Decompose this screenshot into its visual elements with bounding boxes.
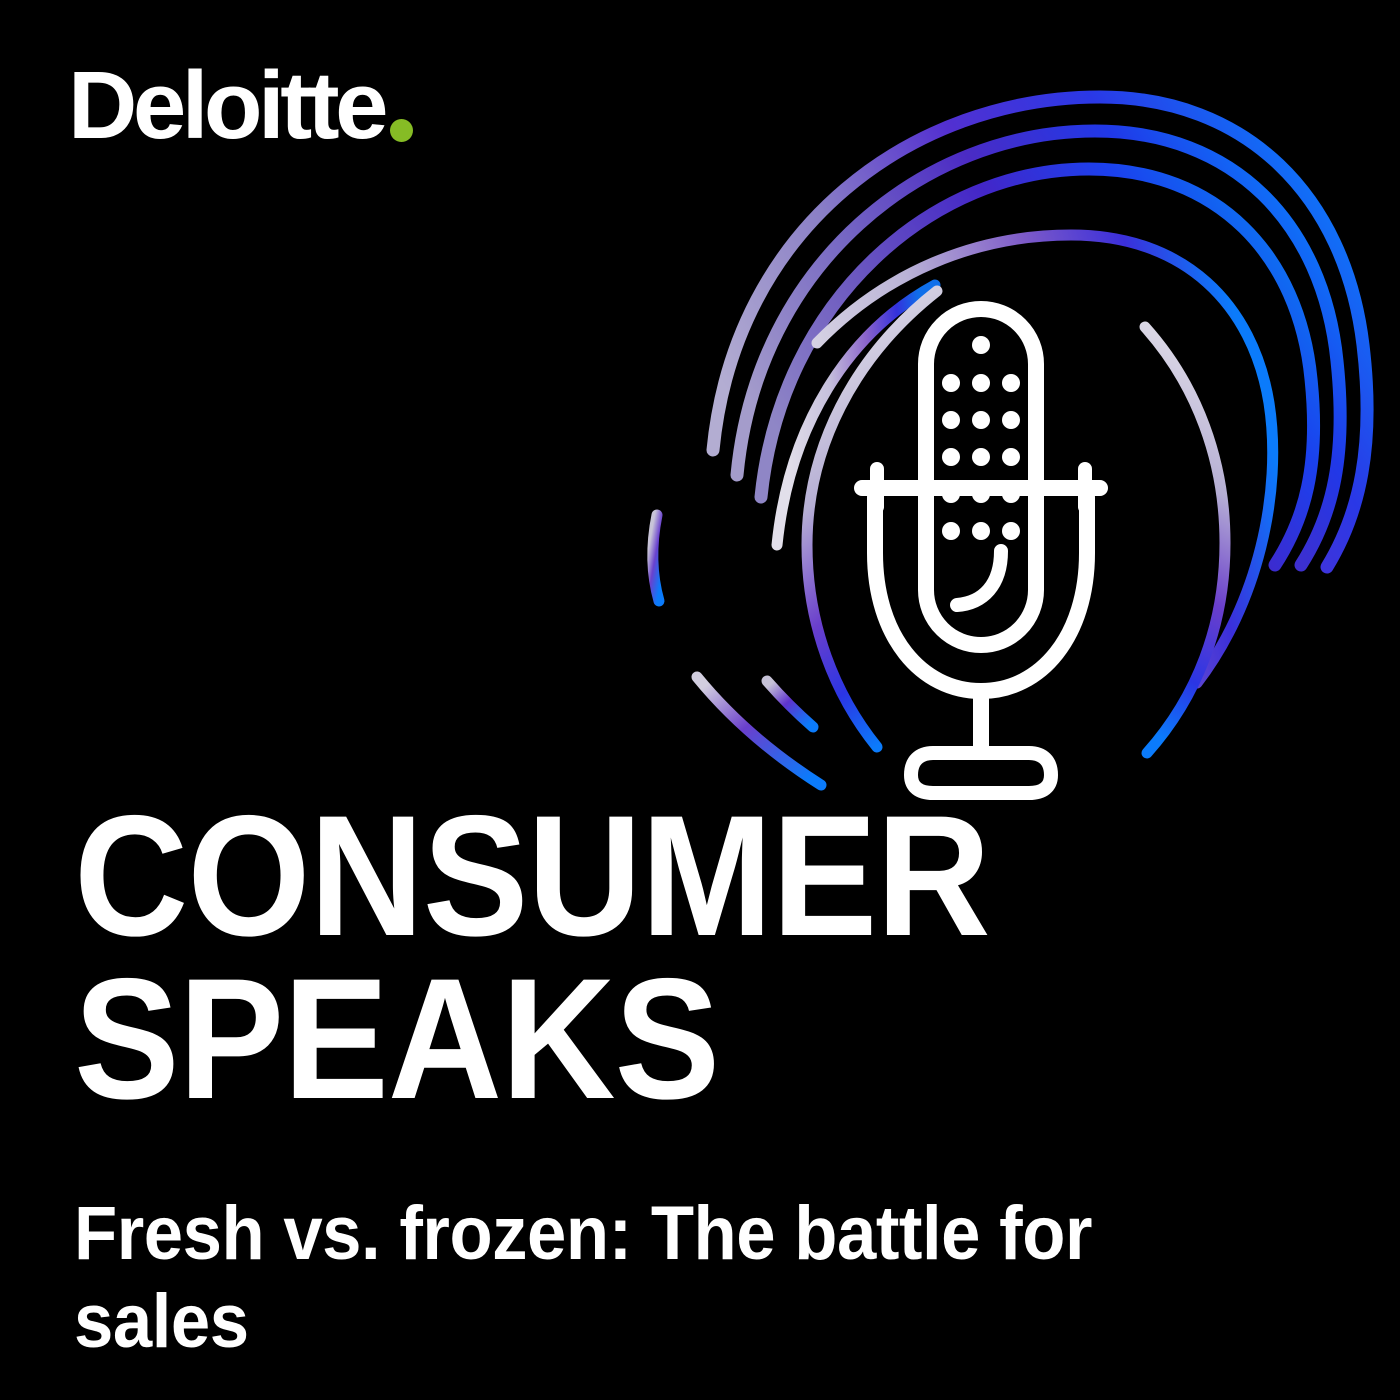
show-title: CONSUMER SPEAKS	[74, 795, 1314, 1122]
show-title-line-1: CONSUMER	[74, 795, 1215, 958]
arc-inner-right	[1145, 327, 1225, 753]
deloitte-wordmark: Deloitte	[68, 62, 384, 150]
arc-fragment-left-small	[653, 515, 659, 601]
mic-dot	[942, 374, 960, 392]
mic-dot	[972, 448, 990, 466]
arc-mid-2	[777, 285, 935, 545]
deloitte-green-dot-icon	[390, 119, 413, 142]
show-title-line-2: SPEAKS	[74, 958, 1215, 1121]
mic-dot	[1002, 411, 1020, 429]
mic-dot	[942, 411, 960, 429]
mic-dot	[972, 411, 990, 429]
deloitte-logo: Deloitte	[68, 62, 413, 150]
episode-subtitle: Fresh vs. frozen: The battle for sales	[74, 1190, 1176, 1366]
podcast-cover-art: Deloitte	[0, 0, 1400, 1400]
mic-dot	[1002, 374, 1020, 392]
mic-dot	[942, 485, 960, 503]
arc-fragment-bottom-long	[697, 677, 821, 785]
microphone-highlight	[957, 551, 1001, 605]
podcast-microphone-artwork	[585, 45, 1375, 815]
mic-dot	[1002, 448, 1020, 466]
mic-dot	[942, 448, 960, 466]
mic-dot	[942, 522, 960, 540]
mic-dot	[1002, 522, 1020, 540]
microphone-dot-grid	[942, 336, 1020, 540]
arc-fragment-bottom-short	[767, 681, 813, 727]
mic-dot	[972, 374, 990, 392]
mic-dot	[972, 485, 990, 503]
mic-dot	[972, 522, 990, 540]
mic-dot	[1002, 485, 1020, 503]
mic-dot	[972, 336, 990, 354]
